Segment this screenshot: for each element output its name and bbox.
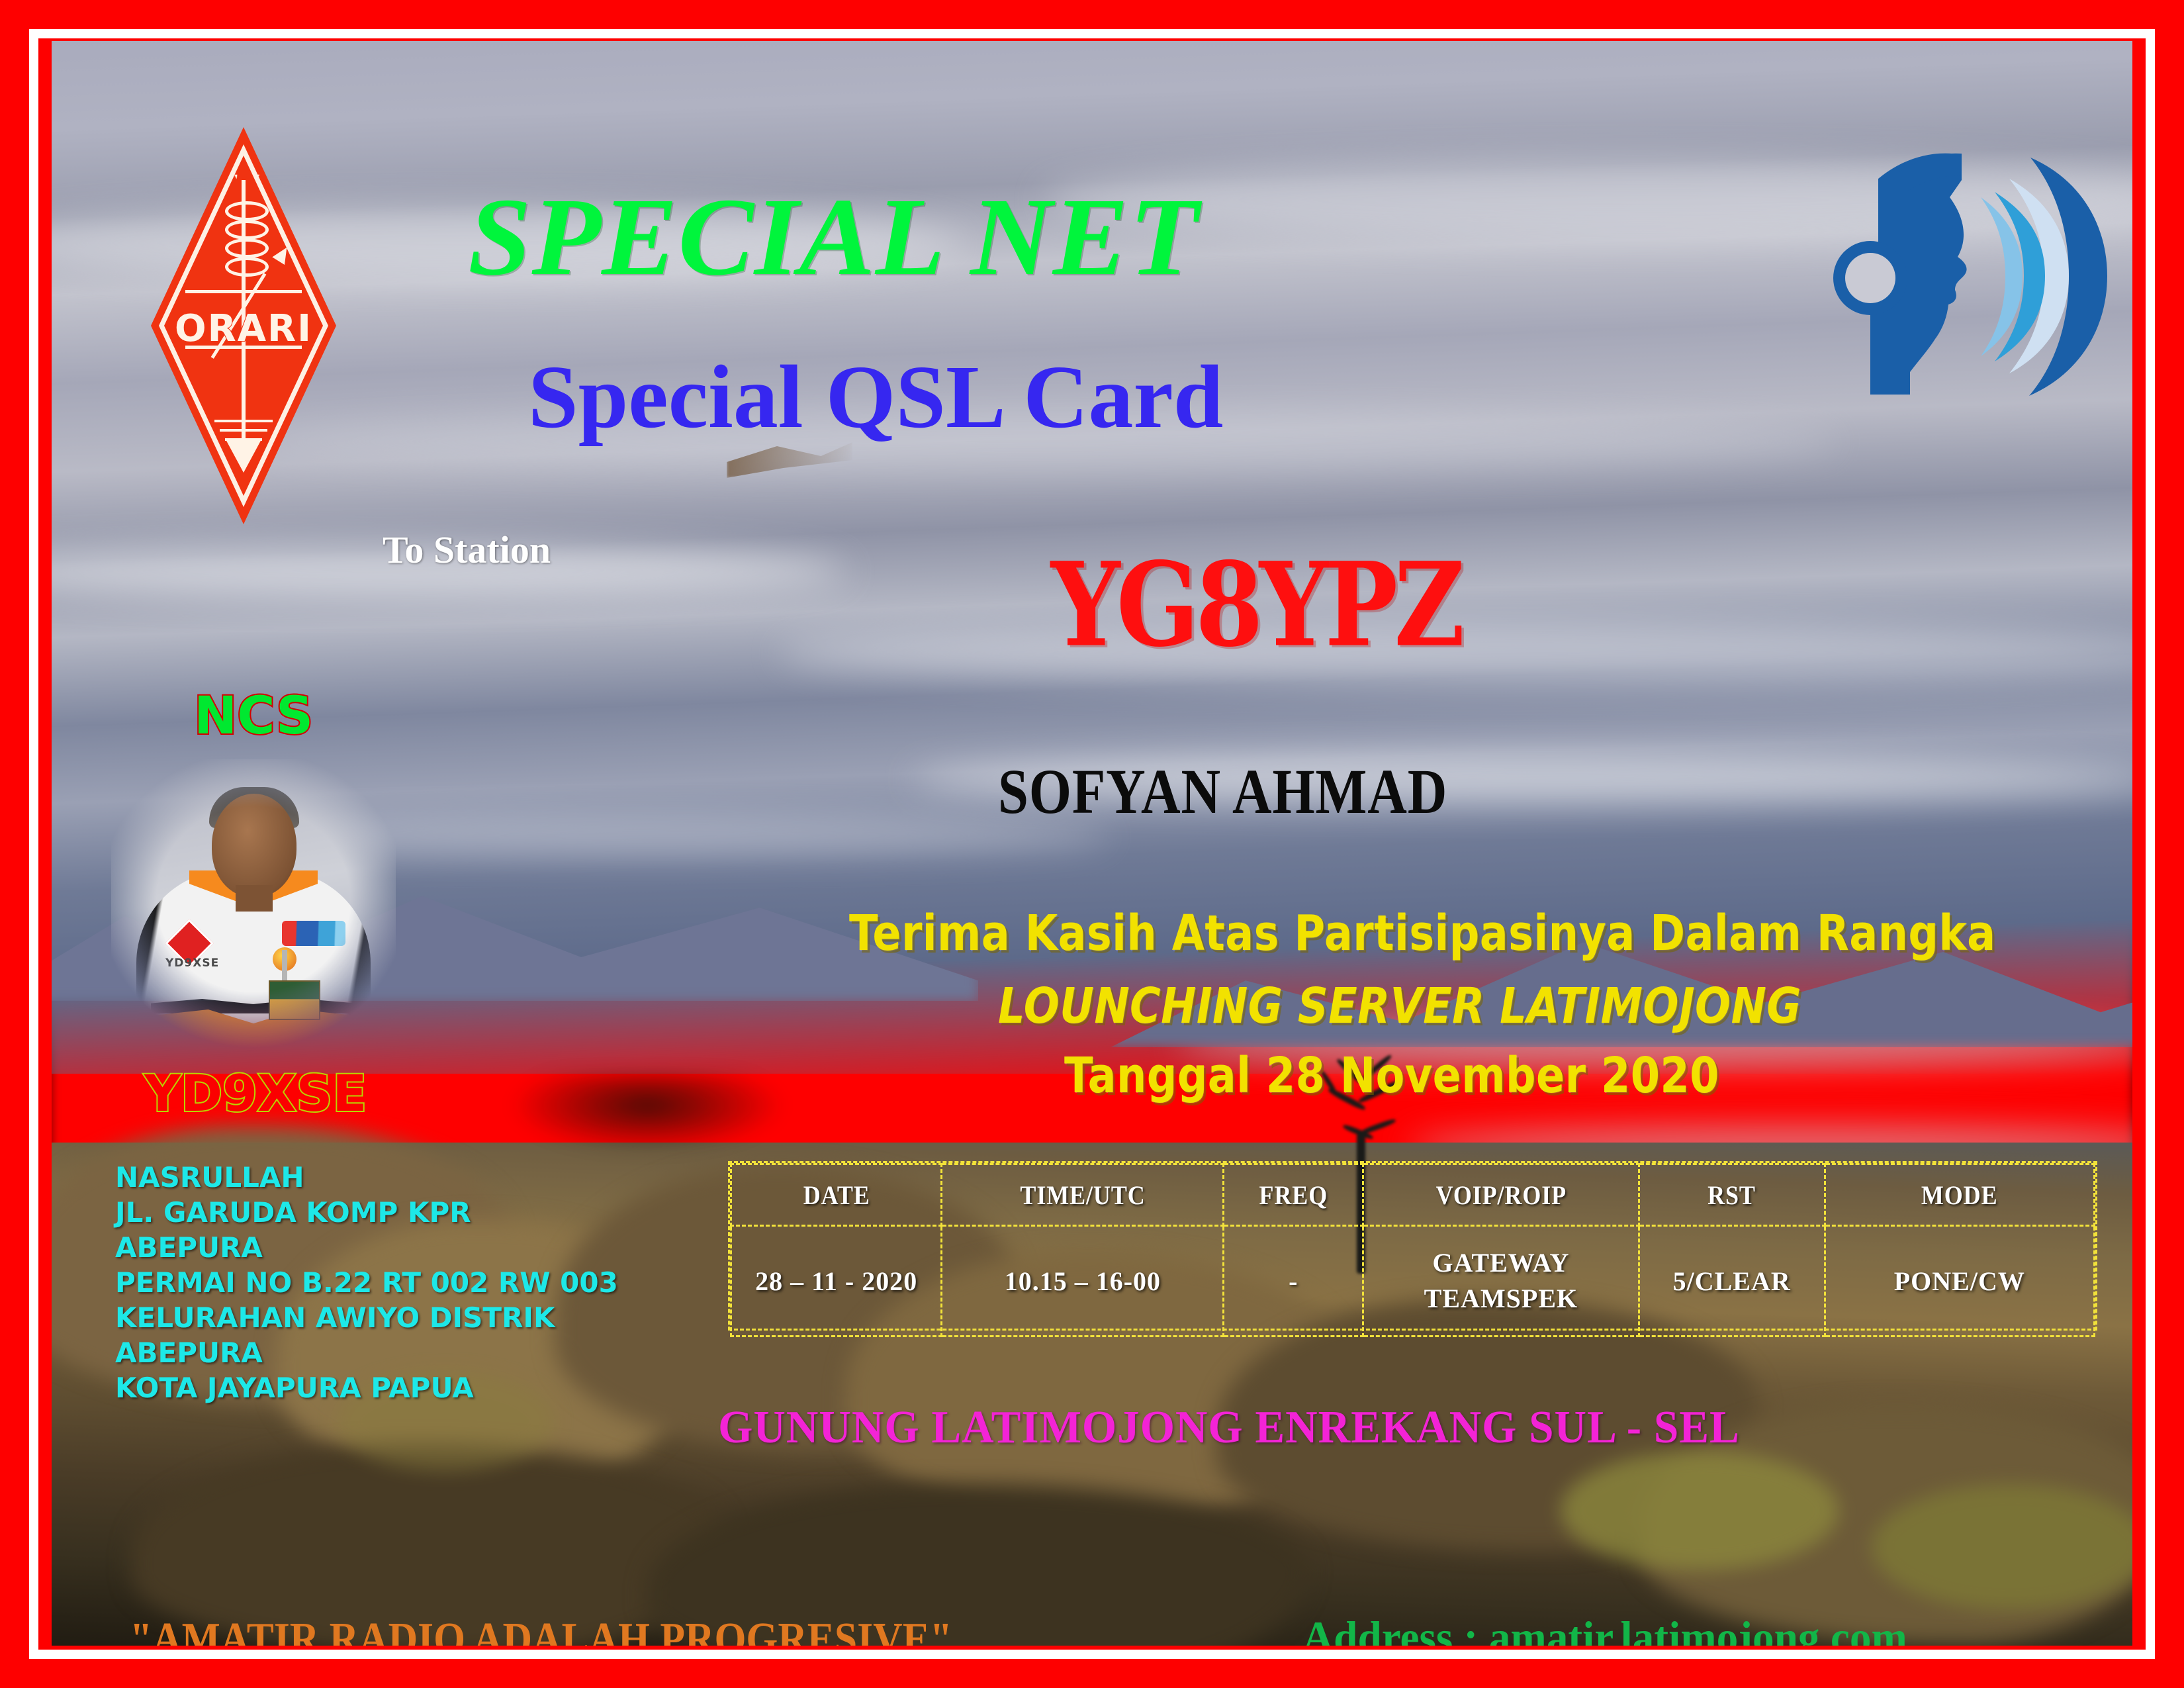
ncs-operator-photo: YD9XSE [111, 759, 396, 1051]
to-station-label: To Station [383, 528, 551, 572]
ncs-callsign: YD9XSE [144, 1064, 367, 1123]
address-line: KELURAHAN AWIYO DISTRIK [115, 1300, 618, 1335]
border-white-bottom [29, 1650, 2155, 1659]
grass-tuft [1561, 1451, 1839, 1570]
orari-logo-text: ORARI [151, 307, 336, 350]
message-line-3: Tanggal 28 November 2020 [1064, 1047, 1719, 1104]
stone-cairn [515, 451, 760, 1133]
orari-diamond-logo: ORARI [151, 127, 336, 524]
address-line: PERMAI NO B.22 RT 002 RW 003 [115, 1265, 618, 1300]
grass-tuft [1872, 1484, 2132, 1610]
cell-voip-line1: GATEWAY [1365, 1245, 1637, 1281]
table-row: 28 – 11 - 2020 10.15 – 16-00 - GATEWAY T… [731, 1226, 2095, 1336]
qsl-card: ORARI SPECIAL NET Special QSL Card To St… [0, 0, 2184, 1688]
message-line-2: LOUNCHING SERVER LATIMOJONG [998, 978, 1801, 1035]
address-line: KOTA JAYAPURA PAPUA [115, 1370, 618, 1405]
column-header-rst: RST [1648, 1164, 1815, 1226]
callsign: YG8YPZ [1051, 537, 1461, 673]
border-white-right [2146, 29, 2155, 1659]
uniform-callsign-text: YD9XSE [165, 957, 219, 970]
ncs-label: NCS [194, 686, 313, 746]
head-with-headset-logo [1832, 140, 2110, 412]
uniform-org-logo [282, 921, 345, 946]
footer-web-address: Address : amatir.latimojong.com [1302, 1611, 1907, 1646]
id-badge [269, 980, 320, 1020]
footer-slogan: "AMATIR RADIO ADALAH PROGRESIVE" [130, 1613, 952, 1646]
column-header-time: TIME/UTC [956, 1164, 1209, 1226]
column-header-mode: MODE [1838, 1164, 2081, 1226]
address-line: JL. GARUDA KOMP KPR [115, 1195, 618, 1230]
border-white-left [29, 29, 38, 1659]
cell-date: 28 – 11 - 2020 [731, 1226, 942, 1336]
address-line: ABEPURA [115, 1230, 618, 1265]
subtitle-special-qsl-card: Special QSL Card [528, 346, 1223, 449]
cell-voip: GATEWAY TEAMSPEK [1363, 1226, 1639, 1336]
address-line: NASRULLAH [115, 1160, 618, 1195]
operator-name: SOFYAN AHMAD [998, 755, 1447, 828]
station-address-block: NASRULLAH JL. GARUDA KOMP KPR ABEPURA PE… [115, 1160, 618, 1405]
cell-mode: PONE/CW [1825, 1226, 2094, 1336]
column-header-date: DATE [741, 1164, 931, 1226]
cell-rst: 5/CLEAR [1639, 1226, 1825, 1336]
table-header-row: DATE TIME/UTC FREQ VOIP/ROIP RST MODE [731, 1164, 2095, 1226]
cell-freq: - [1224, 1226, 1363, 1336]
cell-time: 10.15 – 16-00 [942, 1226, 1224, 1336]
qso-log-table: DATE TIME/UTC FREQ VOIP/ROIP RST MODE 28… [728, 1161, 2097, 1331]
page-title-special-net: SPECIAL NET [468, 173, 1199, 301]
address-line: ABEPURA [115, 1335, 618, 1370]
border-white-top [29, 29, 2155, 38]
column-header-freq: FREQ [1230, 1164, 1356, 1226]
message-line-1: Terima Kasih Atas Partisipasinya Dalam R… [849, 905, 1996, 962]
column-header-voip: VOIP/ROIP [1377, 1164, 1625, 1226]
cell-voip-line2: TEAMSPEK [1365, 1281, 1637, 1317]
background-photo: ORARI SPECIAL NET Special QSL Card To St… [52, 41, 2132, 1646]
location-line: GUNUNG LATIMOJONG ENREKANG SUL - SEL [718, 1401, 1740, 1454]
